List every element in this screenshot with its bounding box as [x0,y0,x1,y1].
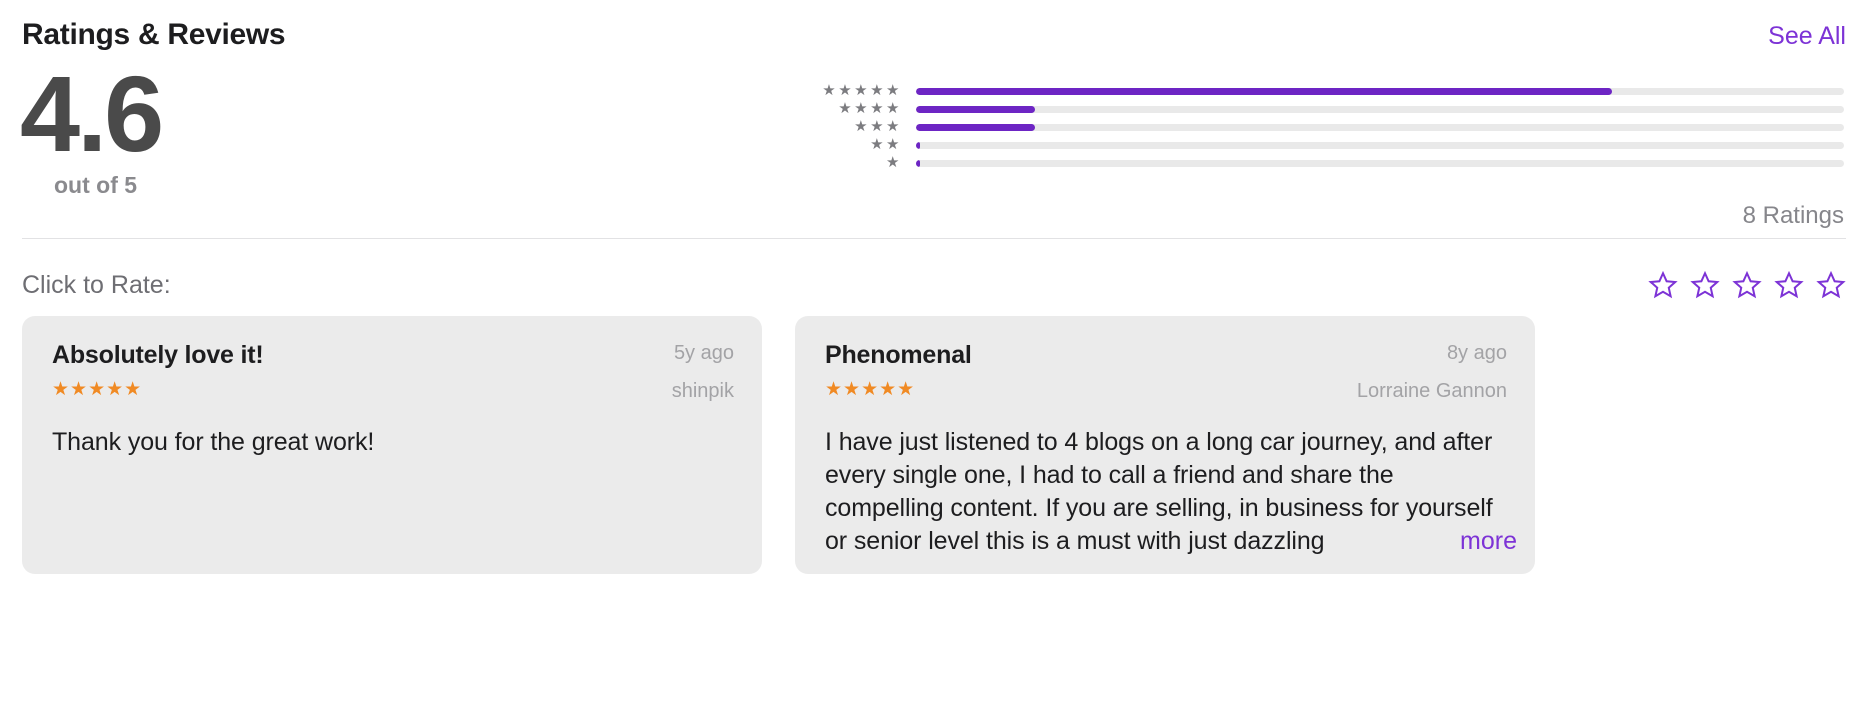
rate-star-1-icon[interactable] [1648,270,1678,300]
section-divider [22,238,1846,239]
histogram-track [916,106,1844,113]
histogram-star-label: ★★★★ [676,100,916,118]
histogram-row: ★★★★★ [676,82,1844,100]
review-star-rating: ★★★★★ [52,378,142,402]
histogram-track [916,124,1844,131]
ratings-summary: 4.6 out of 5 ★★★★★★★★★★★★★★★ 8 Ratings [0,62,1868,224]
rate-star-5-icon[interactable] [1816,270,1846,300]
histogram-bar [916,160,920,167]
histogram-track [916,160,1844,167]
review-body: I have just listened to 4 blogs on a lon… [825,426,1507,558]
page-title: Ratings & Reviews [22,18,285,52]
review-card[interactable]: Phenomenal8y ago★★★★★Lorraine GannonI ha… [795,316,1535,574]
review-star-rating: ★★★★★ [825,378,915,402]
rate-star-2-icon[interactable] [1690,270,1720,300]
histogram-bar [916,142,920,149]
average-score-caption: out of 5 [54,172,340,198]
histogram-track [916,88,1844,95]
histogram-star-label: ★ [676,154,916,172]
review-date: 5y ago [674,340,734,366]
review-card[interactable]: Absolutely love it!5y ago★★★★★shinpikTha… [22,316,762,574]
ratings-and-reviews-section: Ratings & Reviews See All 4.6 out of 5 ★… [0,0,1868,726]
review-header: Phenomenal8y ago [825,340,1507,370]
histogram-row: ★ [676,154,1844,172]
histogram-star-label: ★★ [676,136,916,154]
average-score-value: 4.6 [20,62,340,166]
histogram-row: ★★★★ [676,100,1844,118]
histogram-star-label: ★★★ [676,118,916,136]
review-author: shinpik [672,378,734,404]
click-to-rate-stars[interactable] [1648,270,1846,300]
ratings-count-label: 8 Ratings [676,202,1844,230]
review-cards: Absolutely love it!5y ago★★★★★shinpikTha… [22,316,1846,574]
click-to-rate-label: Click to Rate: [22,270,171,300]
review-author: Lorraine Gannon [1357,378,1507,404]
review-more-link[interactable]: more [1450,525,1517,558]
histogram-star-label: ★★★★★ [676,82,916,100]
review-body: Thank you for the great work! [52,426,734,459]
histogram-bar [916,106,1035,113]
review-title: Absolutely love it! [52,340,264,370]
click-to-rate-row: Click to Rate: [22,262,1846,308]
rate-star-4-icon[interactable] [1774,270,1804,300]
review-subheader: ★★★★★Lorraine Gannon [825,378,1507,404]
section-header: Ratings & Reviews See All [22,18,1846,62]
histogram-bar [916,88,1612,95]
average-score-block: 4.6 out of 5 [20,62,340,198]
histogram-track [916,142,1844,149]
histogram-row: ★★ [676,136,1844,154]
review-subheader: ★★★★★shinpik [52,378,734,404]
histogram-row: ★★★ [676,118,1844,136]
rate-star-3-icon[interactable] [1732,270,1762,300]
ratings-histogram: ★★★★★★★★★★★★★★★ [676,82,1844,172]
see-all-link[interactable]: See All [1768,21,1846,51]
histogram-bar [916,124,1035,131]
review-date: 8y ago [1447,340,1507,366]
review-title: Phenomenal [825,340,972,370]
review-header: Absolutely love it!5y ago [52,340,734,370]
